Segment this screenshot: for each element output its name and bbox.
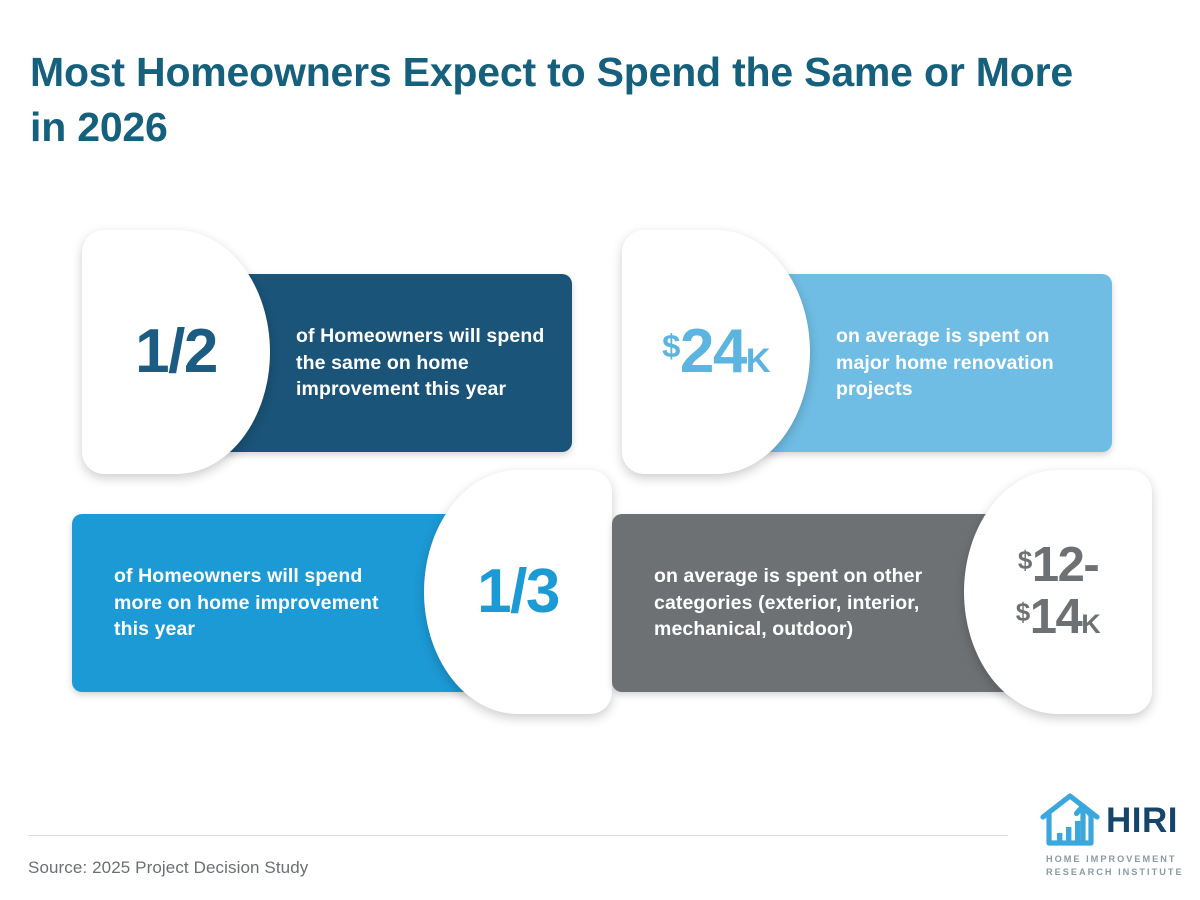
stats-column-right: on average is spent on major home renova…: [612, 222, 1152, 702]
stat-circle: $12- $14K: [964, 470, 1152, 714]
stat-card-12-14k: on average is spent on other categories …: [612, 462, 1112, 692]
stat-value-unit: K: [1081, 609, 1100, 639]
stat-description: of Homeowners will spend the same on hom…: [296, 323, 552, 404]
currency-symbol: $: [662, 327, 680, 364]
hiri-logo: HIRI HOME IMPROVEMENT RESEARCH INSTITUTE: [1040, 792, 1200, 884]
stats-column-left: of Homeowners will spend the same on hom…: [72, 222, 612, 702]
stat-value-number-low: 12-: [1032, 538, 1098, 592]
stat-value: $24K: [662, 321, 770, 383]
house-chart-icon: [1040, 792, 1102, 848]
stat-value-number: 1/3: [477, 557, 559, 626]
logo-wordmark: HIRI: [1106, 803, 1178, 838]
source-note: Source: 2025 Project Decision Study: [28, 858, 308, 878]
stat-value-number: 1/2: [135, 317, 217, 386]
stat-value: 1/3: [477, 561, 559, 623]
stat-value-number-high: 14: [1030, 590, 1082, 644]
currency-symbol: $: [1016, 597, 1030, 627]
stat-value-number: 24: [680, 317, 746, 386]
logo-tagline-line-2: RESEARCH INSTITUTE: [1046, 867, 1184, 877]
logo-row: HIRI: [1040, 792, 1178, 848]
stat-circle: $24K: [622, 230, 810, 474]
currency-symbol: $: [1018, 545, 1032, 575]
stat-card-half: of Homeowners will spend the same on hom…: [72, 222, 572, 452]
stat-value-line-2: $14K: [1016, 592, 1100, 644]
stat-circle: 1/2: [82, 230, 270, 474]
footer-divider: [28, 835, 1008, 836]
stat-value-line-1: $12-: [1016, 540, 1100, 592]
page-title: Most Homeowners Expect to Spend the Same…: [30, 45, 1100, 153]
stat-description: on average is spent on other categories …: [654, 563, 944, 644]
stat-card-third: of Homeowners will spend more on home im…: [72, 462, 572, 692]
logo-tagline-line-1: HOME IMPROVEMENT: [1046, 854, 1177, 864]
stat-value-unit: K: [746, 342, 770, 380]
stat-description: on average is spent on major home renova…: [836, 323, 1092, 404]
stat-description: of Homeowners will spend more on home im…: [114, 563, 404, 644]
stat-card-24k: on average is spent on major home renova…: [612, 222, 1112, 452]
stat-circle: 1/3: [424, 470, 612, 714]
stats-grid: of Homeowners will spend the same on hom…: [0, 222, 1200, 702]
stat-value: 1/2: [135, 321, 217, 383]
stat-value: $12- $14K: [1016, 540, 1100, 644]
